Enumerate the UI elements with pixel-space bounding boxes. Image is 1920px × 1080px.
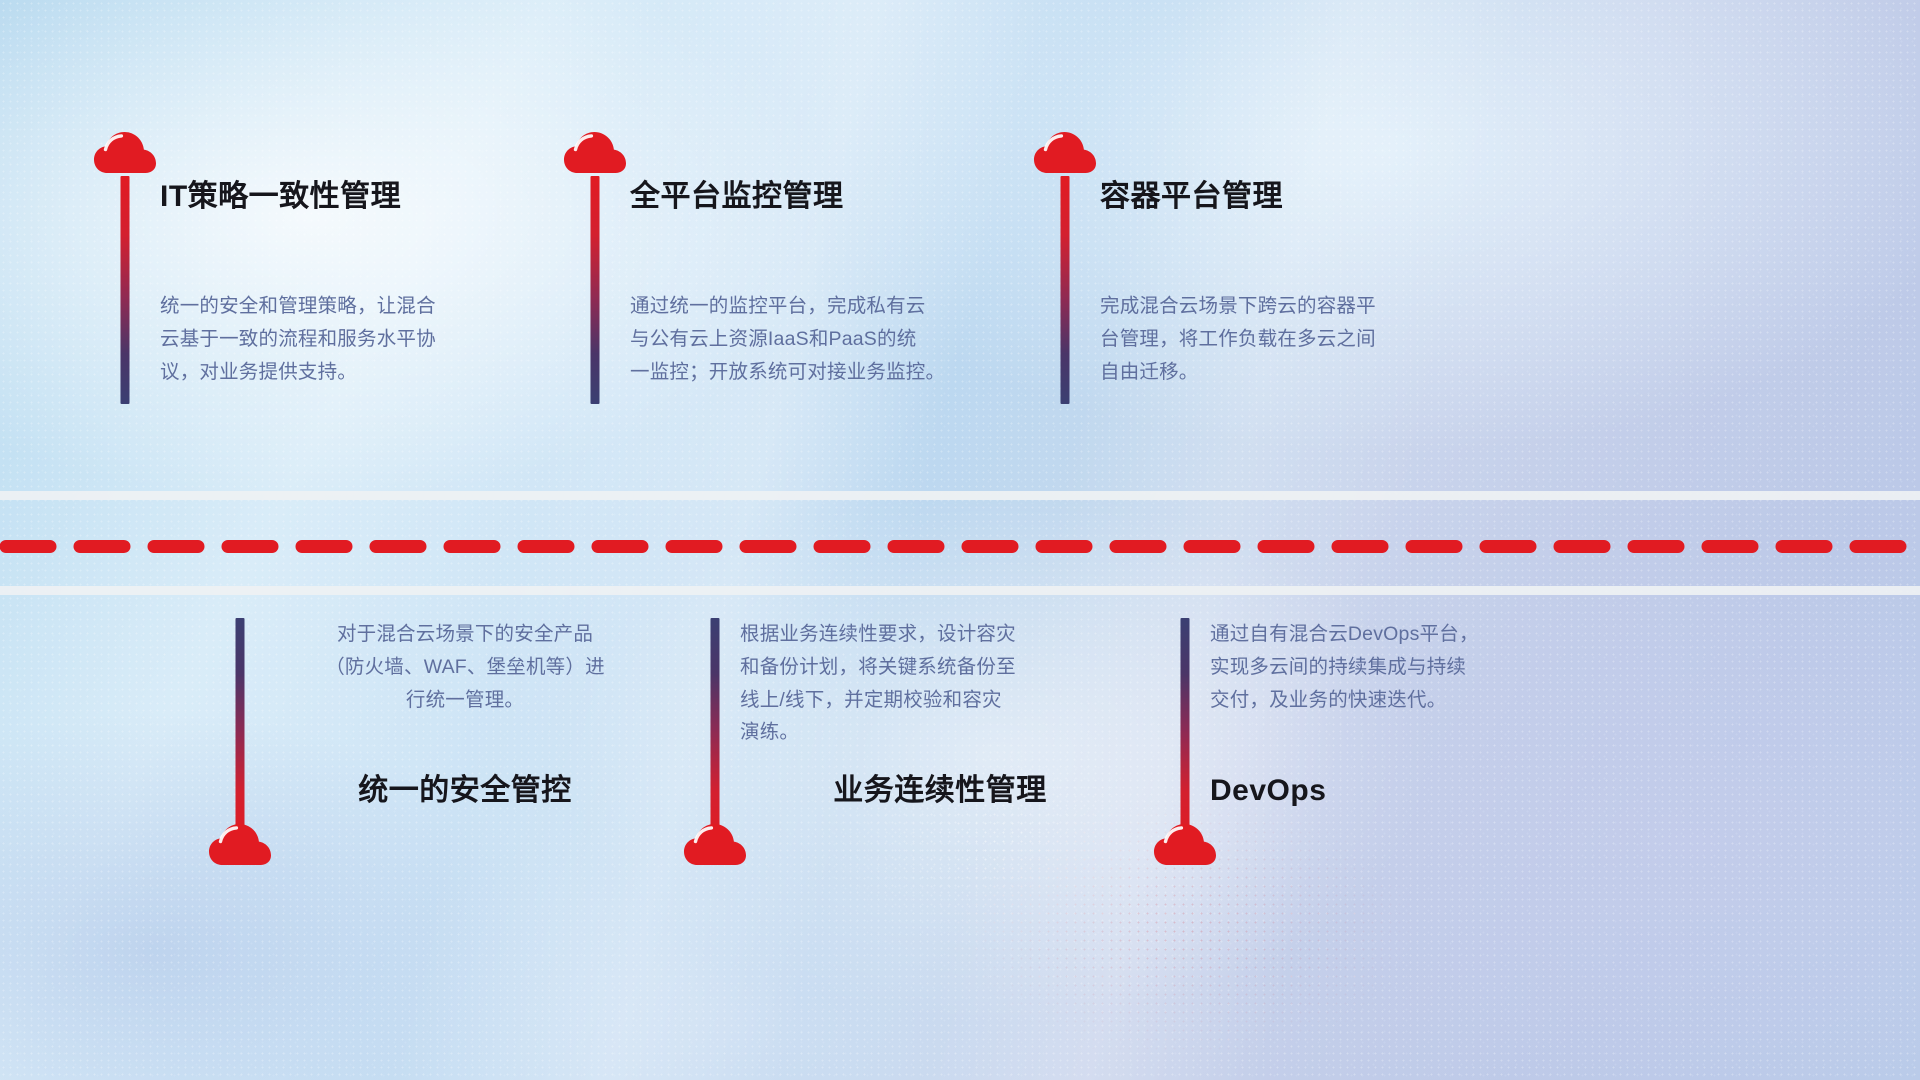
cloud-icon — [94, 132, 156, 176]
divider-dashed-line — [0, 540, 1920, 553]
card-body: 通过统一的监控平台，完成私有云 与公有云上资源IaaS和PaaS的统 一监控；开… — [630, 290, 1030, 388]
card-body: 统一的安全和管理策略，让混合 云基于一致的流程和服务水平协 议，对业务提供支持。 — [160, 290, 560, 388]
cloud-icon — [684, 824, 746, 868]
cloud-icon — [209, 824, 271, 868]
card-heading: 容器平台管理 — [1100, 182, 1283, 212]
cloud-icon — [1154, 824, 1216, 868]
timeline-stem — [1061, 176, 1070, 404]
timeline-stem — [711, 618, 720, 846]
card-body: 完成混合云场景下跨云的容器平 台管理，将工作负载在多云之间 自由迁移。 — [1100, 290, 1500, 388]
timeline-stem — [1181, 618, 1190, 846]
divider-rule-bottom — [0, 586, 1920, 595]
card-heading: 全平台监控管理 — [630, 182, 844, 212]
card-body: 对于混合云场景下的安全产品 （防火墙、WAF、堡垒机等）进 行统一管理。 — [265, 618, 665, 716]
card-body: 根据业务连续性要求，设计容灾 和备份计划，将关键系统备份至 线上/线下，并定期校… — [740, 618, 1140, 749]
card-heading: 业务连续性管理 — [740, 776, 1140, 806]
card-heading: IT策略一致性管理 — [160, 182, 401, 212]
timeline-stem — [121, 176, 130, 404]
divider-rule-top — [0, 491, 1920, 500]
timeline-stem — [591, 176, 600, 404]
infographic-root: IT策略一致性管理 统一的安全和管理策略，让混合 云基于一致的流程和服务水平协 … — [0, 0, 1920, 1080]
card-body: 通过自有混合云DevOps平台， 实现多云间的持续集成与持续 交付，及业务的快速… — [1210, 618, 1610, 716]
timeline-stem — [236, 618, 245, 846]
cloud-icon — [1034, 132, 1096, 176]
card-heading: DevOps — [1210, 776, 1610, 806]
card-heading: 统一的安全管控 — [265, 776, 665, 806]
cloud-icon — [564, 132, 626, 176]
